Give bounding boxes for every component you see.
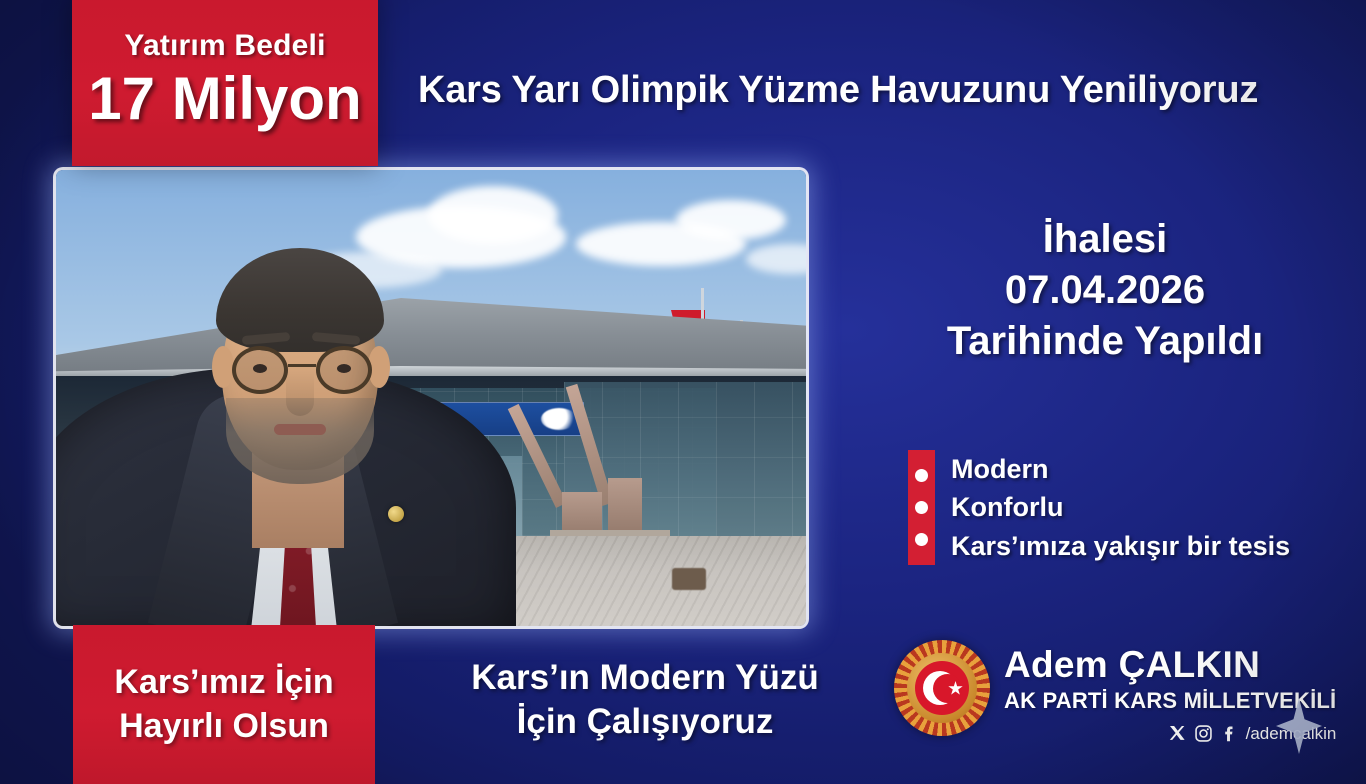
photo-content: KARS YARI OLİMPİK KAPALI YÜZME HAVUZU	[56, 170, 806, 626]
tbmm-emblem-icon	[894, 640, 990, 736]
bullet-bar	[908, 450, 935, 565]
features-block: Modern Konforlu Kars’ımıza yakışır bir t…	[908, 450, 1290, 565]
eyeglass-lens-left	[232, 346, 288, 394]
project-photo: KARS YARI OLİMPİK KAPALI YÜZME HAVUZU	[56, 170, 806, 626]
investment-badge: Yatırım Bedeli 17 Milyon	[72, 0, 378, 166]
tender-line-3: Tarihinde Yapıldı	[880, 316, 1330, 367]
ear-left	[212, 346, 234, 388]
pool-logo-icon	[541, 408, 577, 430]
bullet-dot-icon	[915, 533, 928, 546]
avatar	[56, 170, 526, 626]
signature-name: Adem ÇALKIN	[1004, 646, 1336, 683]
cloud-icon	[676, 200, 786, 240]
slogan-block: Kars’ın Modern Yüzü İçin Çalışıyoruz	[420, 656, 870, 744]
list-item: Modern	[951, 450, 1290, 488]
cloud-icon	[746, 244, 806, 274]
tender-date-block: İhalesi 07.04.2026 Tarihinde Yapıldı	[880, 214, 1330, 368]
congratulations-line-2: Hayırlı Olsun	[119, 705, 329, 749]
investment-label: Yatırım Bedeli	[124, 31, 325, 61]
bullet-dot-icon	[915, 469, 928, 482]
eyeglasses-icon	[232, 346, 372, 394]
congratulations-line-1: Kars’ımız İçin	[114, 661, 333, 705]
slogan-line-1: Kars’ın Modern Yüzü	[420, 656, 870, 700]
list-item: Konforlu	[951, 488, 1290, 526]
facebook-icon[interactable]	[1220, 724, 1239, 743]
poster-canvas: Yatırım Bedeli 17 Milyon Kars Yarı Olimp…	[0, 0, 1366, 784]
mouth	[274, 424, 326, 435]
signature-role: AK PARTİ KARS MİLLETVEKİLİ	[1004, 690, 1336, 712]
list-item: Kars’ımıza yakışır bir tesis	[951, 527, 1290, 565]
slogan-line-2: İçin Çalışıyoruz	[420, 700, 870, 744]
signature-block: Adem ÇALKIN AK PARTİ KARS MİLLETVEKİLİ /…	[894, 640, 1336, 743]
page-title: Kars Yarı Olimpik Yüzme Havuzunu Yeniliy…	[418, 70, 1328, 112]
tbmm-inner-disc	[915, 661, 969, 715]
lapel-pin-icon	[388, 506, 404, 522]
eyeglass-lens-right	[316, 346, 372, 394]
feature-list: Modern Konforlu Kars’ımıza yakışır bir t…	[935, 450, 1290, 565]
bullet-dot-icon	[915, 501, 928, 514]
instagram-icon[interactable]	[1194, 724, 1213, 743]
congratulations-panel: Kars’ımız İçin Hayırlı Olsun	[73, 625, 375, 784]
tender-line-1: İhalesi	[880, 214, 1330, 265]
tender-line-2: 07.04.2026	[880, 265, 1330, 316]
eyeglass-bridge	[288, 364, 316, 367]
investment-amount: 17 Milyon	[88, 67, 361, 130]
ground-object	[672, 568, 706, 590]
x-icon[interactable]	[1168, 724, 1187, 743]
